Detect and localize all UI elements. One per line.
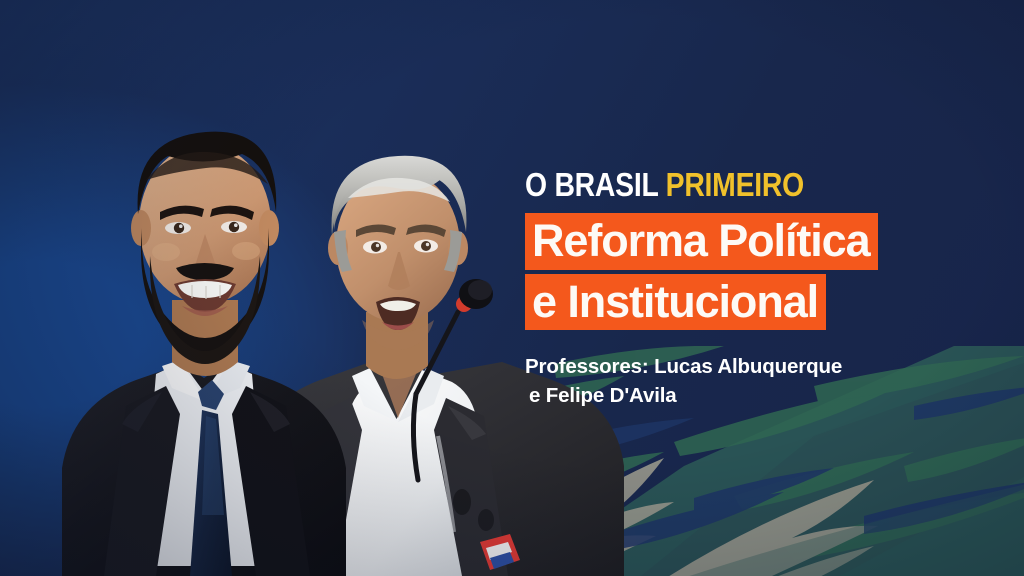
kicker-part-two: PRIMEIRO [666, 166, 804, 203]
presenters-block: Professores: Lucas Albuquerque e Felipe … [525, 352, 925, 410]
headline-line-2: e Institucional [525, 274, 826, 331]
headline-line-1: Reforma Política [525, 213, 878, 270]
headline-lines: Reforma Política e Institucional [525, 213, 995, 330]
poster-canvas: O BRASIL PRIMEIRO Reforma Política e Ins… [0, 0, 1024, 576]
kicker-part-one: O BRASIL [525, 166, 666, 203]
headline-block: O BRASIL PRIMEIRO Reforma Política e Ins… [525, 168, 995, 411]
kicker-line: O BRASIL PRIMEIRO [525, 168, 929, 201]
presenters-line-1: Professores: Lucas Albuquerque [525, 352, 925, 381]
presenters-line-2: e Felipe D'Avila [525, 381, 925, 410]
